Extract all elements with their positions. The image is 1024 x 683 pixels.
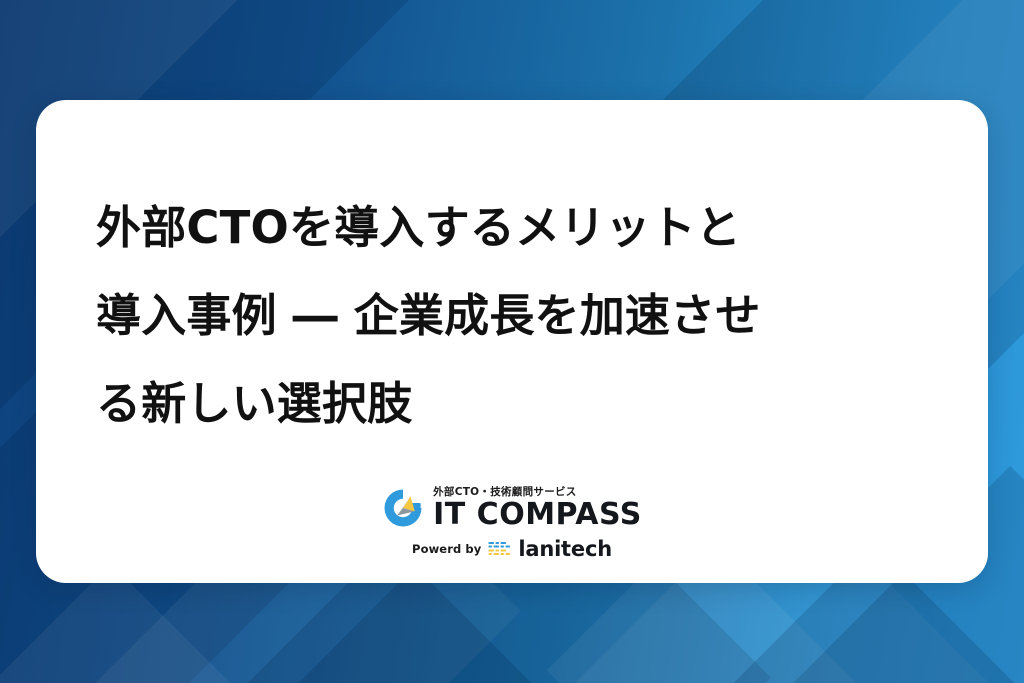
brand-logo-lockup: 外部CTO・技術顧問サービス IT COMPASS Powerd by [36,487,988,562]
logo-text-stack: 外部CTO・技術顧問サービス IT COMPASS [433,487,642,531]
title-line-3: る新しい選択肢 [96,360,928,448]
logo-primary-row: 外部CTO・技術顧問サービス IT COMPASS [382,487,642,531]
compass-icon [382,487,424,529]
logo-tagline: 外部CTO・技術顧問サービス [433,487,577,498]
partner-name: lanitech [518,537,612,561]
title-line-1: 外部CTOを導入するメリットと [96,184,928,272]
powered-by-row: Powerd by lanitech [412,537,612,561]
title-line-2: 導入事例 ― 企業成長を加速させ [96,272,928,360]
lanitech-grid-icon [488,541,511,557]
page-title: 外部CTOを導入するメリットと 導入事例 ― 企業成長を加速させ る新しい選択肢 [36,100,988,448]
slide-canvas: 外部CTOを導入するメリットと 導入事例 ― 企業成長を加速させ る新しい選択肢… [0,0,1024,683]
logo-wordmark: IT COMPASS [433,500,642,530]
powered-by-label: Powerd by [412,542,481,556]
content-card: 外部CTOを導入するメリットと 導入事例 ― 企業成長を加速させ る新しい選択肢… [36,100,988,583]
